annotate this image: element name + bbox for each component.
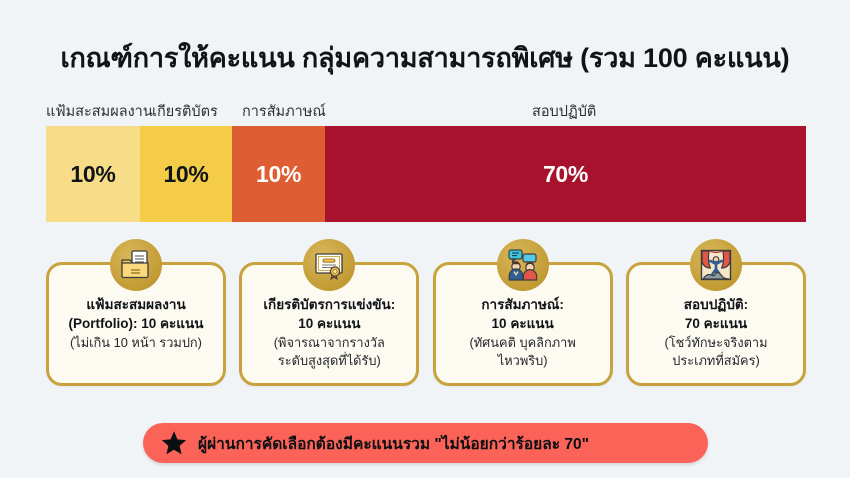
- bar-track: 10% 10% 10% 70%: [46, 126, 806, 222]
- criteria-card-subtitle: (ไม่เกิน 10 หน้า รวมปก): [57, 334, 215, 352]
- bar-segment-value-portfolio: 10%: [70, 161, 115, 188]
- score-breakdown-bar-chart: แฟ้มสะสมผลงาน เกียรติบัตร การสัมภาษณ์ สอ…: [46, 100, 806, 222]
- bar-label-certificate: เกียรติบัตร: [152, 100, 218, 123]
- criteria-card-subtitle: (พิจารณาจากรางวัล ระดับสูงสุดที่ได้รับ): [250, 334, 408, 370]
- minimum-score-text: ผู้ผ่านการคัดเลือกต้องมีคะแนนรวม "ไม่น้อ…: [198, 431, 589, 456]
- criteria-card-sub-line-1: (โชว์ทักษะจริงตาม: [664, 335, 767, 350]
- star-icon: [161, 430, 187, 456]
- bar-segment-value-practical-exam: 70%: [543, 161, 588, 188]
- interview-people-icon: [497, 239, 549, 291]
- bar-segment-certificate: 10%: [140, 126, 232, 222]
- criteria-card-title: เกียรติบัตรการแข่งขัน: 10 คะแนน: [250, 295, 408, 333]
- criteria-card-title-line-1: แฟ้มสะสมผลงาน: [86, 297, 185, 312]
- criteria-card-sub-line-1: (ไม่เกิน 10 หน้า รวมปก): [70, 335, 202, 350]
- criteria-card-list: แฟ้มสะสมผลงาน (Portfolio): 10 คะแนน (ไม่…: [46, 262, 806, 386]
- page-title: เกณฑ์การให้คะแนน กลุ่มความสามารถพิเศษ (ร…: [0, 36, 850, 79]
- criteria-card-subtitle: (โชว์ทักษะจริงตาม ประเภทที่สมัคร): [637, 334, 795, 370]
- criteria-card-title: แฟ้มสะสมผลงาน (Portfolio): 10 คะแนน: [57, 295, 215, 333]
- criteria-card-title-line-2: 10 คะแนน: [298, 316, 360, 331]
- bar-label-portfolio: แฟ้มสะสมผลงาน: [46, 100, 153, 123]
- bar-label-practical-exam: สอบปฏิบัติ: [532, 100, 596, 123]
- criteria-card-sub-line-2: ไหวพริบ): [498, 353, 548, 368]
- portfolio-folder-icon: [110, 239, 162, 291]
- bar-label-interview: การสัมภาษณ์: [242, 100, 326, 123]
- criteria-card-certificate: เกียรติบัตรการแข่งขัน: 10 คะแนน (พิจารณา…: [239, 262, 419, 386]
- criteria-card-interview: การสัมภาษณ์: 10 คะแนน (ทัศนคติ บุคลิกภาพ…: [433, 262, 613, 386]
- criteria-card-title-line-2: 10 คะแนน: [492, 316, 554, 331]
- bar-segment-practical-exam: 70%: [325, 126, 806, 222]
- criteria-card-title: สอบปฏิบัติ: 70 คะแนน: [637, 295, 795, 333]
- bar-segment-value-certificate: 10%: [163, 161, 208, 188]
- bar-segment-portfolio: 10%: [46, 126, 140, 222]
- criteria-card-title-line-1: สอบปฏิบัติ:: [684, 297, 748, 312]
- criteria-card-title-line-2: (Portfolio): 10 คะแนน: [69, 316, 204, 331]
- criteria-card-portfolio: แฟ้มสะสมผลงาน (Portfolio): 10 คะแนน (ไม่…: [46, 262, 226, 386]
- certificate-icon: [303, 239, 355, 291]
- criteria-card-title-line-1: การสัมภาษณ์:: [481, 297, 564, 312]
- minimum-score-banner: ผู้ผ่านการคัดเลือกต้องมีคะแนนรวม "ไม่น้อ…: [143, 423, 708, 463]
- criteria-card-sub-line-2: ระดับสูงสุดที่ได้รับ): [278, 353, 381, 368]
- stage-performance-icon: [690, 239, 742, 291]
- criteria-card-practical-exam: สอบปฏิบัติ: 70 คะแนน (โชว์ทักษะจริงตาม ป…: [626, 262, 806, 386]
- criteria-card-sub-line-1: (พิจารณาจากรางวัล: [274, 335, 385, 350]
- criteria-card-sub-line-2: ประเภทที่สมัคร): [672, 353, 760, 368]
- criteria-card-title: การสัมภาษณ์: 10 คะแนน: [444, 295, 602, 333]
- bar-segment-value-interview: 10%: [256, 161, 301, 188]
- criteria-card-title-line-1: เกียรติบัตรการแข่งขัน:: [263, 297, 395, 312]
- criteria-card-title-line-2: 70 คะแนน: [685, 316, 747, 331]
- criteria-card-subtitle: (ทัศนคติ บุคลิกภาพ ไหวพริบ): [444, 334, 602, 370]
- criteria-card-sub-line-1: (ทัศนคติ บุคลิกภาพ: [469, 335, 575, 350]
- bar-segment-interview: 10%: [232, 126, 325, 222]
- bar-label-row: แฟ้มสะสมผลงาน เกียรติบัตร การสัมภาษณ์ สอ…: [46, 100, 806, 126]
